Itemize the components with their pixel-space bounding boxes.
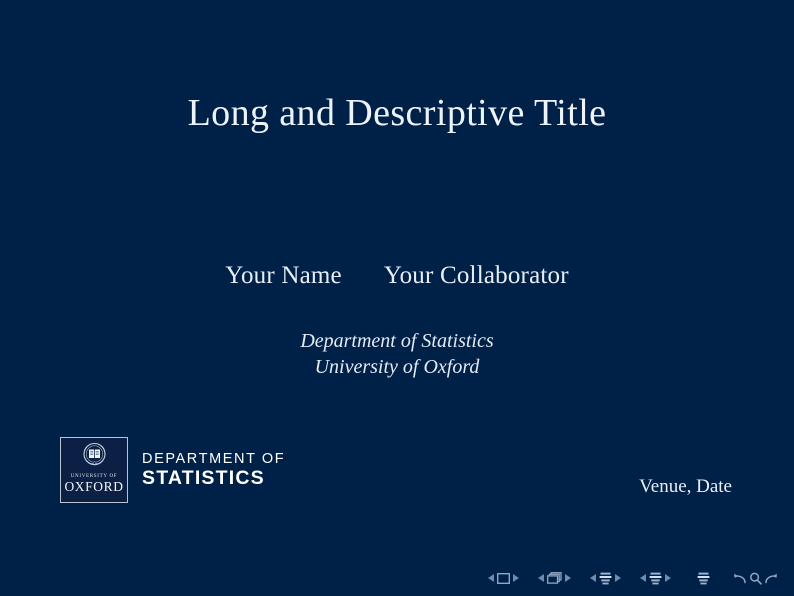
institute-university: University of Oxford xyxy=(0,354,794,380)
slide-icon[interactable] xyxy=(497,573,510,584)
nav-group-presentation[interactable] xyxy=(697,572,710,585)
logo-department-line2: STATISTICS xyxy=(142,468,285,489)
title-block: Long and Descriptive Title xyxy=(0,92,794,136)
venue-date: Venue, Date xyxy=(639,476,732,498)
author-name-collaborator: Your Collaborator xyxy=(384,262,569,290)
oxford-statistics-logo: UNIVERSITY OF OXFORD DEPARTMENT OF STATI… xyxy=(60,437,285,503)
presentation-icon[interactable] xyxy=(697,572,710,585)
forward-arrow-icon[interactable] xyxy=(764,572,778,585)
previous-slide-icon[interactable] xyxy=(488,574,494,582)
search-icon[interactable] xyxy=(749,572,762,585)
beamer-navigation-bar[interactable] xyxy=(485,569,778,587)
presentation-slide: Long and Descriptive Title Your Name You… xyxy=(0,0,794,596)
author-name-primary: Your Name xyxy=(225,262,342,290)
logo-university-name: OXFORD xyxy=(64,480,123,494)
logo-department-text: DEPARTMENT OF STATISTICS xyxy=(142,451,285,489)
next-subsection-icon[interactable] xyxy=(615,574,621,582)
previous-section-icon[interactable] xyxy=(640,574,646,582)
nav-group-section[interactable] xyxy=(637,572,674,585)
nav-group-slide[interactable] xyxy=(485,573,522,584)
next-section-icon[interactable] xyxy=(665,574,671,582)
institute-block: Department of Statistics University of O… xyxy=(0,328,794,380)
nav-group-frame[interactable] xyxy=(535,572,574,584)
page-title: Long and Descriptive Title xyxy=(0,92,794,136)
authors-block: Your Name Your Collaborator xyxy=(0,262,794,290)
back-arrow-icon[interactable] xyxy=(733,572,747,585)
previous-frame-icon[interactable] xyxy=(538,574,544,582)
logo-department-line1: DEPARTMENT OF xyxy=(142,451,285,468)
oxford-crest-icon xyxy=(81,442,108,470)
nav-group-history[interactable] xyxy=(733,572,778,585)
frame-icon[interactable] xyxy=(547,572,562,584)
previous-subsection-icon[interactable] xyxy=(590,574,596,582)
subsection-icon[interactable] xyxy=(599,572,612,585)
next-frame-icon[interactable] xyxy=(565,574,571,582)
nav-group-subsection[interactable] xyxy=(587,572,624,585)
next-slide-icon[interactable] xyxy=(513,574,519,582)
oxford-crest-box: UNIVERSITY OF OXFORD xyxy=(60,437,128,503)
section-icon[interactable] xyxy=(649,572,662,585)
institute-department: Department of Statistics xyxy=(0,328,794,354)
